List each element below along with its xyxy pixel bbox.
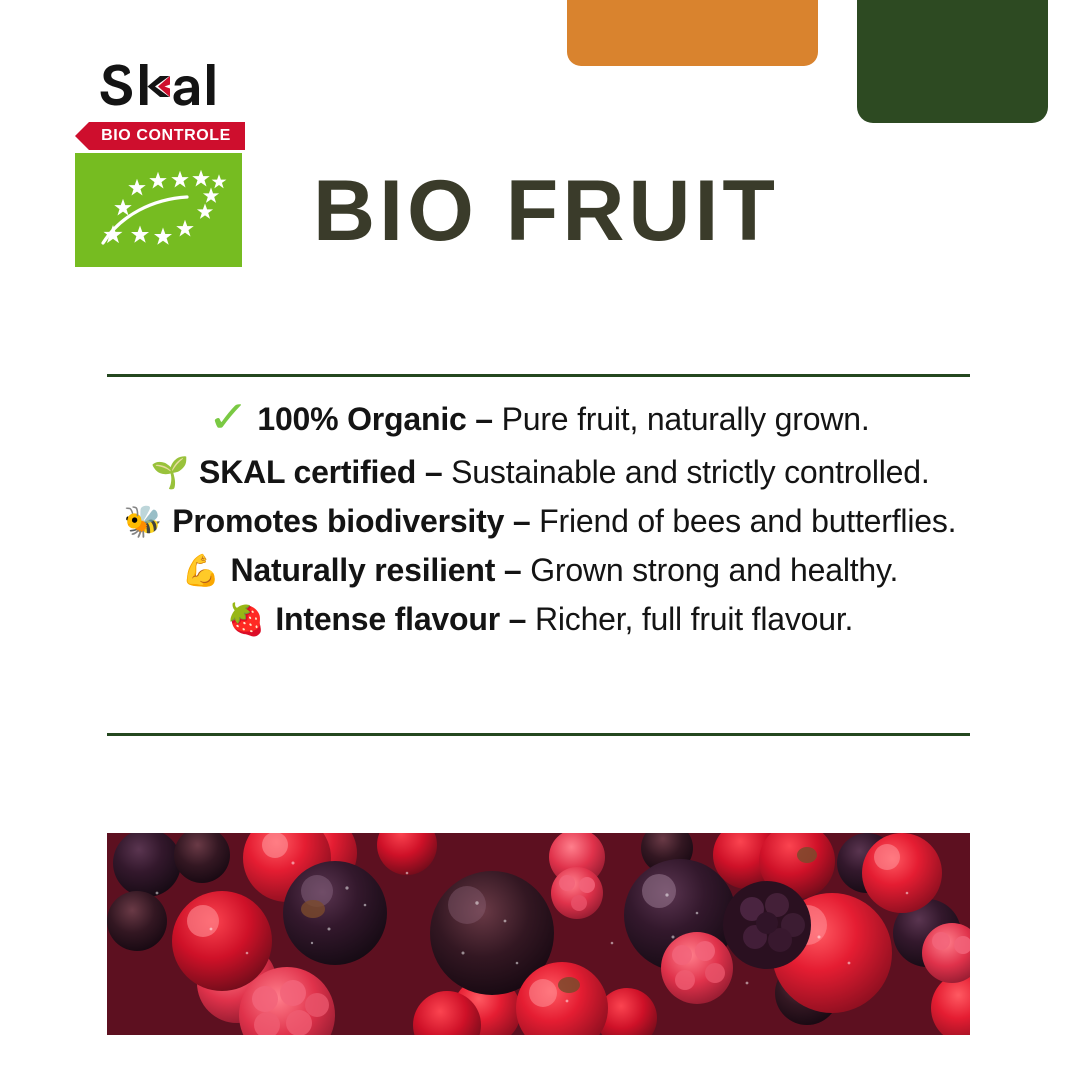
strawberry-icon: 🍓 — [227, 604, 266, 635]
skal-wordmark — [100, 64, 250, 116]
skal-logo: BIO CONTROLE — [75, 64, 247, 267]
list-item: 💪 Naturally resilient – Grown strong and… — [55, 552, 1025, 589]
feature-desc: Friend of bees and butterflies. — [539, 503, 956, 539]
list-item: 🌱 SKAL certified – Sustainable and stric… — [55, 454, 1025, 491]
feature-desc: Grown strong and healthy. — [530, 552, 898, 588]
feature-text: SKAL certified – Sustainable and strictl… — [199, 454, 930, 491]
list-item: ✓ 100% Organic – Pure fruit, naturally g… — [55, 398, 1025, 442]
list-item: 🍓 Intense flavour – Richer, full fruit f… — [55, 601, 1025, 638]
bee-icon: 🐝 — [124, 506, 163, 537]
bio-controle-banner: BIO CONTROLE — [75, 122, 245, 150]
feature-list: ✓ 100% Organic – Pure fruit, naturally g… — [0, 398, 1080, 638]
feature-lead: Promotes biodiversity – — [172, 503, 530, 539]
feature-text: Promotes biodiversity – Friend of bees a… — [172, 503, 956, 540]
divider-top — [107, 374, 970, 377]
feature-desc: Pure fruit, naturally grown. — [502, 401, 870, 437]
feature-desc: Richer, full fruit flavour. — [535, 601, 853, 637]
feature-text: Naturally resilient – Grown strong and h… — [230, 552, 898, 589]
flexed-biceps-icon: 💪 — [182, 555, 221, 586]
decorative-block-orange — [567, 0, 818, 66]
mixed-frozen-berries-photo — [107, 833, 970, 1035]
list-item: 🐝 Promotes biodiversity – Friend of bees… — [55, 503, 1025, 540]
eu-organic-euroleaf-icon — [75, 153, 242, 267]
decorative-block-green — [857, 0, 1048, 123]
feature-text: Intense flavour – Richer, full fruit fla… — [275, 601, 853, 638]
page-title: BIO FRUIT — [313, 168, 779, 254]
feature-lead: Intense flavour – — [275, 601, 526, 637]
feature-lead: SKAL certified – — [199, 454, 442, 490]
feature-text: 100% Organic – Pure fruit, naturally gro… — [257, 401, 869, 438]
divider-bottom — [107, 733, 970, 736]
poster-canvas: BIO CONTROLE — [0, 0, 1080, 1080]
feature-lead: Naturally resilient – — [230, 552, 521, 588]
feature-desc: Sustainable and strictly controlled. — [451, 454, 929, 490]
seedling-icon: 🌱 — [150, 457, 189, 488]
check-mark-icon: ✓ — [208, 396, 250, 440]
feature-lead: 100% Organic – — [257, 401, 493, 437]
